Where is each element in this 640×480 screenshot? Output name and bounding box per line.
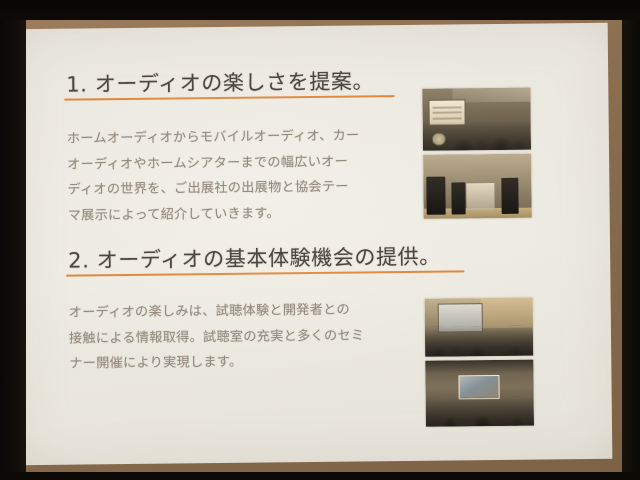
photo-seminar-room <box>425 298 534 357</box>
section-2-body-line-3: ナー開催により実現します。 <box>69 348 364 377</box>
photo-4-ceiling <box>425 360 533 374</box>
photo-3-audience <box>425 325 533 356</box>
photo-large-hall-seminar <box>425 360 534 427</box>
photo-2-speaker-right <box>501 178 519 214</box>
photo-2-equipment-rack <box>467 183 495 210</box>
section-2-heading: 2. オーディオの基本体験機会の提供。 <box>68 241 441 275</box>
section-2-body: オーディオの楽しみは、試聴体験と開発者との 接触による情報取得。試聴室の充実と多… <box>69 297 365 377</box>
room-edge-top <box>0 0 640 20</box>
projected-slide-photograph: 1. オーディオの楽しさを提案。 ホームオーディオからモバイルオーディオ、カー … <box>0 0 640 480</box>
photo-loudspeaker-display <box>423 154 532 219</box>
room-edge-right <box>622 0 640 480</box>
photo-4-audience <box>426 397 534 427</box>
photo-2-speaker-left <box>427 176 446 215</box>
photo-3-wall <box>481 298 533 329</box>
section-1-body-line-3: ディオの世界を、ご出展社の出展物と協会テー <box>67 174 360 203</box>
slide-content-area: 1. オーディオの楽しさを提案。 ホームオーディオからモバイルオーディオ、カー … <box>14 23 613 465</box>
section-1-body-line-2: オーディオやホームシアターまでの幅広いオー <box>67 149 360 178</box>
section-1-body: ホームオーディオからモバイルオーディオ、カー オーディオやホームシアターまでの幅… <box>67 123 361 228</box>
photo-4-projection-screen <box>459 375 500 400</box>
section-2-body-line-1: オーディオの楽しみは、試聴体験と開発者との <box>69 297 364 326</box>
section-1-body-line-1: ホームオーディオからモバイルオーディオ、カー <box>67 123 360 152</box>
photo-exhibition-booth <box>422 88 531 151</box>
section-1-body-line-4: マ展示によって紹介していきます。 <box>68 200 361 229</box>
photo-1-round-object <box>431 132 445 145</box>
room-edge-left <box>0 0 26 480</box>
photo-2-speaker-mid <box>451 183 465 215</box>
section-2-body-line-2: 接触による情報取得。試聴室の充実と多くのセミ <box>69 323 364 352</box>
room-edge-bottom <box>0 472 640 480</box>
projection-screen-surface: 1. オーディオの楽しさを提案。 ホームオーディオからモバイルオーディオ、カー … <box>14 23 613 465</box>
section-1-heading: 1. オーディオの楽しさを提案。 <box>66 65 374 98</box>
